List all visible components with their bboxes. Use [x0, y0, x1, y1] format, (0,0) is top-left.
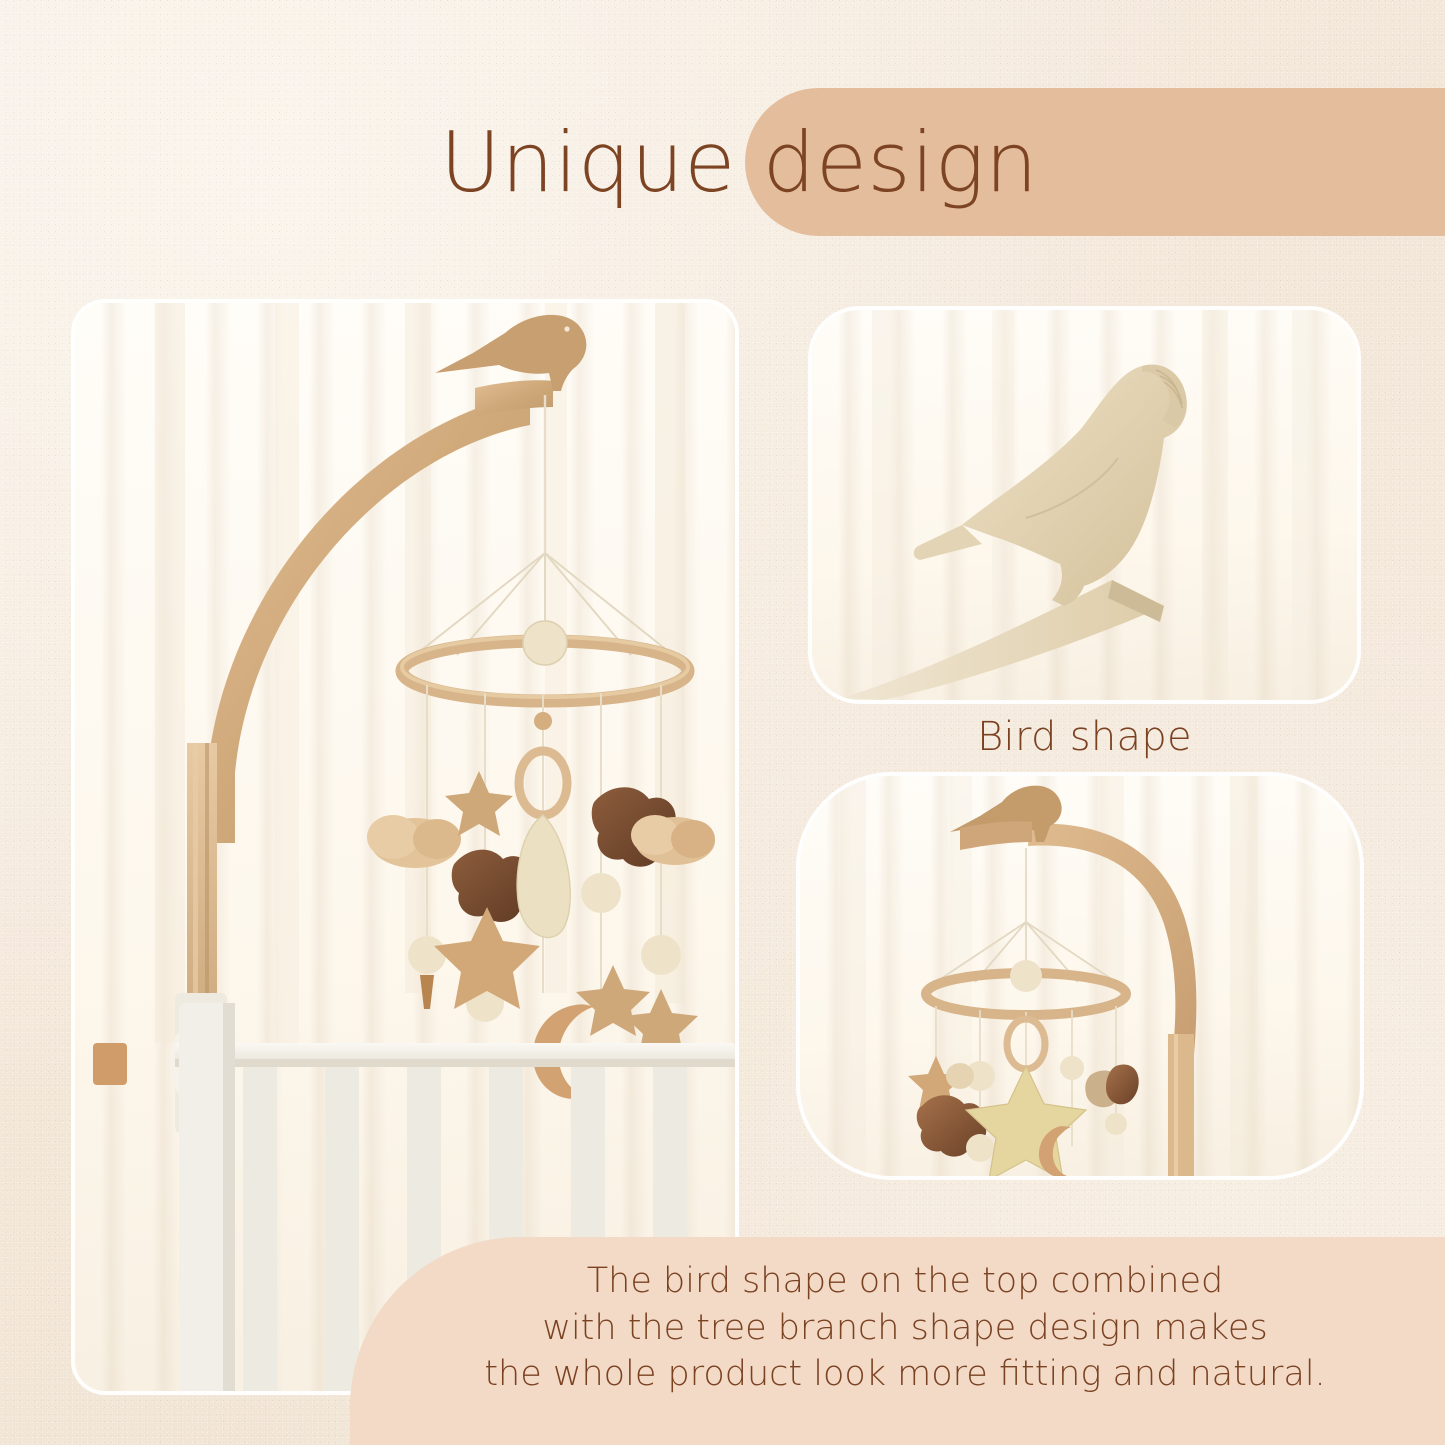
main-product-photo — [75, 303, 735, 1391]
full-mobile-illustration — [800, 776, 1360, 1176]
caption-line-2: with the tree branch shape design makes — [380, 1305, 1430, 1352]
main-photo-illustration — [75, 303, 735, 1391]
caption-line-1: The bird shape on the top combined — [380, 1258, 1430, 1305]
bird-shape-closeup-photo — [812, 310, 1357, 700]
bird-shape-label: Bird shape — [812, 714, 1357, 760]
infographic-page: Unique design — [0, 0, 1445, 1445]
page-title-text: Unique design — [440, 114, 1038, 211]
page-title: Unique design — [440, 108, 1400, 218]
full-mobile-photo — [800, 776, 1360, 1176]
caption-line-3: the whole product look more fitting and … — [380, 1351, 1430, 1398]
caption-text: The bird shape on the top combined with … — [380, 1258, 1430, 1398]
bird-closeup-illustration — [812, 310, 1357, 700]
